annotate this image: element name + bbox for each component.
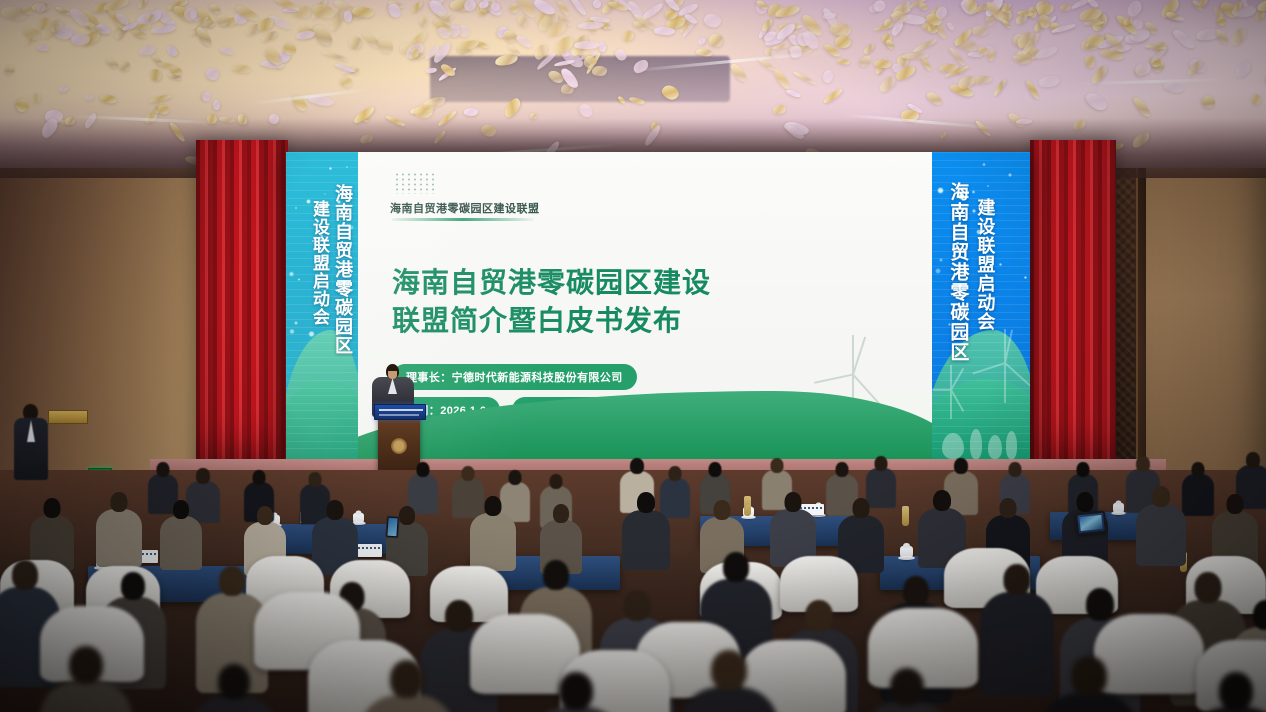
crystal-leaf: [1233, 58, 1254, 80]
person-torso: [622, 510, 670, 570]
banner-left-title-main: 海南自贸港零碳园区: [334, 184, 352, 355]
banner-scanline: [932, 236, 1030, 237]
crystal-leaf: [147, 66, 163, 82]
banner-scanline: [286, 198, 358, 199]
wall-plaque: [48, 410, 88, 424]
banner-scanline: [932, 175, 1030, 176]
person-head: [543, 560, 569, 590]
crystal-leaf: [1170, 26, 1196, 50]
crystal-leaf: [100, 93, 118, 104]
audience-member: [1136, 486, 1186, 569]
crystal-leaf: [793, 71, 817, 86]
banner-sparkle: [952, 255, 955, 258]
crystal-leaf: [925, 90, 944, 107]
person-torso: [680, 687, 778, 712]
banner-scanline: [932, 357, 1030, 358]
crystal-leaf: [213, 100, 220, 111]
crystal-leaf: [862, 42, 875, 54]
crystal-leaf: [464, 108, 479, 117]
crystal-leaf: [1039, 75, 1061, 89]
banner-scanline: [932, 365, 1030, 366]
banner-scanline: [286, 441, 358, 442]
person-head: [875, 456, 888, 471]
banner-scanline: [286, 160, 358, 161]
person-head: [1136, 456, 1150, 472]
crystal-leaf: [946, 21, 956, 31]
banner-scanline: [932, 319, 1030, 320]
screen-banner-right: 海南自贸港零碳园区 建设联盟启动会: [932, 152, 1030, 459]
crystal-leaf: [574, 40, 600, 48]
crystal-leaf: [613, 47, 628, 62]
water-bottle: [902, 506, 909, 526]
banner-scanline: [286, 243, 358, 244]
crystal-leaf: [426, 67, 437, 73]
person-head: [853, 498, 870, 518]
crystal-leaf: [972, 25, 989, 36]
crystal-leaf: [14, 96, 32, 114]
crystal-leaf: [1060, 3, 1072, 11]
banner-sparkle: [337, 200, 341, 204]
person-head: [550, 474, 563, 489]
banner-scanline: [286, 190, 358, 191]
crystal-leaf: [834, 36, 850, 49]
person-head: [1009, 462, 1022, 477]
tablet-device: [1075, 510, 1107, 535]
banner-sparkle: [948, 323, 951, 326]
crystal-leaf: [620, 29, 635, 43]
crystal-leaf: [772, 104, 787, 116]
person-head: [157, 462, 170, 477]
banner-scanline: [286, 319, 358, 320]
crystal-leaf: [4, 63, 17, 75]
banner-scanline: [286, 236, 358, 237]
audience-member: [360, 660, 454, 712]
crystal-leaf: [709, 34, 724, 47]
banner-scanline: [932, 296, 1030, 297]
crystal-leaf: [29, 92, 42, 105]
crystal-leaf: [1215, 27, 1231, 45]
banner-sparkle: [295, 207, 297, 209]
tree-icon-4: [1006, 431, 1017, 459]
person-head: [509, 470, 522, 485]
person-head: [890, 668, 924, 706]
banner-scanline: [932, 243, 1030, 244]
audience-member: [680, 650, 778, 712]
banner-sparkle: [987, 185, 989, 187]
banner-scanline: [286, 365, 358, 366]
banner-scanline: [932, 167, 1030, 168]
banner-scanline: [932, 342, 1030, 343]
crystal-leaf: [822, 69, 835, 84]
person-torso: [96, 509, 142, 567]
banner-scanline: [932, 160, 1030, 161]
banner-scanline: [932, 258, 1030, 259]
person-head: [462, 466, 475, 481]
audience-member: [530, 672, 622, 712]
crystal-leaf: [858, 54, 874, 69]
banner-scanline: [932, 380, 1030, 381]
banner-scanline: [932, 441, 1030, 442]
person-head: [553, 504, 569, 523]
crystal-leaf: [822, 87, 843, 104]
banner-scanline: [932, 388, 1030, 389]
person-head: [1004, 564, 1031, 595]
banner-scanline: [286, 372, 358, 373]
crystal-leaf: [516, 14, 528, 28]
banner-sparkle: [324, 193, 326, 195]
teacup: [900, 546, 913, 560]
person-head: [44, 498, 61, 518]
person-head: [714, 500, 731, 520]
banner-sparkle: [316, 230, 319, 233]
banner-scanline: [932, 281, 1030, 282]
crystal-leaf: [702, 12, 721, 29]
banner-scanline: [286, 312, 358, 313]
banner-scanline: [932, 312, 1030, 313]
person-head: [12, 560, 38, 590]
tree-icon-3: [988, 435, 1002, 459]
banner-scanline: [286, 380, 358, 381]
phone-device: [385, 516, 400, 539]
conference-hall-photo: 海南自贸港零碳园区 建设联盟启动会 海南自贸港零碳园区: [0, 0, 1266, 712]
person-head: [1000, 498, 1017, 518]
crystal-leaf: [578, 22, 604, 30]
banner-scanline: [932, 350, 1030, 351]
audience-member: [860, 668, 954, 712]
crystal-leaf: [231, 64, 251, 74]
banner-sparkle: [1024, 276, 1027, 279]
person-head: [173, 500, 189, 519]
audience-member: [190, 664, 278, 712]
crystal-leaf: [696, 48, 714, 57]
banner-scanline: [286, 334, 358, 335]
crystal-leaf: [1200, 93, 1217, 110]
person-head: [836, 462, 849, 477]
crystal-leaf: [836, 58, 849, 65]
crystal-leaf: [410, 0, 424, 14]
person-head: [485, 496, 502, 516]
banner-scanline: [286, 266, 358, 267]
crystal-leaf: [592, 66, 607, 77]
banner-scanline: [932, 152, 1030, 153]
banner-scanline: [286, 448, 358, 449]
person-head: [903, 576, 929, 606]
crystal-leaf: [1085, 54, 1096, 68]
person-head: [669, 466, 682, 481]
crystal-leaf: [58, 85, 68, 93]
person-torso: [1136, 504, 1186, 566]
banner-scanline: [932, 410, 1030, 411]
banner-scanline: [286, 418, 358, 419]
banner-scanline: [286, 251, 358, 252]
banner-scanline: [286, 296, 358, 297]
crystal-leaf: [1249, 93, 1262, 107]
person-head: [253, 470, 266, 485]
crystal-leaf: [150, 24, 176, 34]
banner-scanline: [286, 175, 358, 176]
podium-sign: [374, 404, 426, 420]
banner-scanline: [286, 213, 358, 214]
banner-scanline: [286, 350, 358, 351]
person-head: [309, 472, 322, 487]
banner-scanline: [932, 190, 1030, 191]
audience-member: [622, 492, 670, 573]
banner-scanline: [932, 198, 1030, 199]
tree-icon-1: [942, 433, 964, 459]
person-head: [1086, 588, 1114, 621]
audience-member: [160, 500, 202, 573]
crystal-leaf: [85, 93, 96, 101]
crystal-leaf: [617, 96, 626, 105]
person-head: [218, 664, 250, 700]
crystal-leaf: [165, 44, 179, 58]
crystal-leaf: [55, 6, 71, 17]
banner-scanline: [286, 388, 358, 389]
crystal-leaf: [343, 11, 352, 23]
banner-scanline: [932, 418, 1030, 419]
person-head: [1219, 672, 1253, 710]
person-head: [1071, 656, 1107, 696]
banner-scanline: [932, 274, 1030, 275]
wind-turbine-icon-banner-right: [988, 329, 1022, 403]
banner-scanline: [286, 167, 358, 168]
banner-scanline: [286, 281, 358, 282]
crystal-leaf: [593, 0, 601, 9]
crystal-leaf: [37, 44, 49, 51]
banner-scanline: [286, 342, 358, 343]
person-head: [954, 458, 968, 474]
banner-scanline: [286, 327, 358, 328]
crystal-leaf: [205, 67, 219, 80]
stage-curtain-right: [1030, 140, 1116, 480]
banner-scanline: [286, 395, 358, 396]
banner-scanline: [932, 182, 1030, 183]
banner-scanline: [286, 220, 358, 221]
crystal-leaf: [1228, 26, 1249, 49]
banner-hill2-left: [286, 379, 358, 459]
crystal-leaf: [912, 37, 938, 53]
crystal-leaf: [515, 33, 534, 49]
dot-grid-icon: [394, 172, 438, 194]
person-head: [1195, 572, 1222, 603]
person-head: [390, 660, 424, 698]
banner-scanline: [932, 448, 1030, 449]
slide-title-line-1: 海南自贸港零碳园区建设: [392, 264, 892, 302]
person-head: [196, 468, 210, 484]
crystal-leaf: [629, 96, 645, 105]
person-head: [1227, 494, 1244, 514]
crystal-leaf: [194, 25, 214, 48]
audience-member: [96, 492, 142, 570]
person-head: [1253, 600, 1266, 630]
banner-scanline: [286, 410, 358, 411]
person-head: [1077, 492, 1094, 512]
crystal-leaf: [993, 78, 1008, 97]
crystal-leaf: [697, 36, 707, 46]
banner-scanline: [286, 228, 358, 229]
person-torso: [40, 681, 132, 712]
person-head: [445, 600, 473, 632]
person-head: [771, 458, 784, 473]
slide-title-line-2: 联盟简介暨白皮书发布: [392, 302, 892, 340]
banner-scanline: [286, 304, 358, 305]
slide-logo-text: 海南自贸港零碳园区建设联盟: [390, 200, 540, 216]
audience-member: [470, 496, 516, 574]
person-head: [399, 506, 415, 525]
crystal-leaf: [260, 30, 278, 44]
crystal-leaf: [219, 46, 234, 55]
person-head: [805, 600, 833, 632]
person-head: [785, 492, 802, 512]
banner-scanline: [932, 205, 1030, 206]
crystal-leaf: [502, 95, 523, 119]
banner-scanline: [932, 403, 1030, 404]
crystal-leaf: [772, 66, 792, 90]
crystal-leaf: [785, 89, 801, 100]
person-head: [121, 572, 145, 600]
crystal-leaf: [1132, 95, 1153, 118]
crystal-leaf: [131, 28, 147, 39]
speaker-face: [388, 371, 397, 379]
person-head: [417, 462, 430, 477]
crystal-leaf: [414, 104, 433, 119]
crystal-leaf: [578, 102, 595, 119]
audience-member: [1190, 672, 1266, 712]
crystal-leaf: [119, 61, 130, 72]
banner-scanline: [286, 274, 358, 275]
crystal-leaf: [375, 35, 396, 56]
slide-logo-underline: [392, 218, 534, 221]
banner-scanline: [932, 433, 1030, 434]
person-head: [1192, 462, 1205, 477]
person-head: [637, 492, 655, 513]
person-head: [709, 462, 722, 477]
crystal-leaf: [654, 27, 675, 36]
person-torso: [470, 513, 516, 571]
crystal-leaf: [137, 0, 148, 9]
banner-scanline: [932, 220, 1030, 221]
person-head: [1152, 486, 1170, 507]
person-head: [1246, 452, 1260, 468]
screen-banner-left: 海南自贸港零碳园区 建设联盟启动会: [286, 152, 358, 459]
person-head: [630, 458, 644, 474]
banner-scanline: [932, 372, 1030, 373]
audience-member: [1040, 656, 1138, 712]
banner-sparkle: [294, 321, 298, 325]
banner-scanline: [932, 228, 1030, 229]
banner-scanline: [286, 152, 358, 153]
person-head: [711, 650, 747, 690]
crystal-leaf: [24, 36, 36, 46]
slide-title: 海南自贸港零碳园区建设 联盟简介暨白皮书发布: [392, 264, 892, 339]
crystal-leaf: [200, 91, 212, 103]
audience-member: [40, 646, 132, 712]
crystal-leaf: [418, 15, 429, 28]
banner-scanline: [932, 327, 1030, 328]
banner-scanline: [286, 205, 358, 206]
banner-scanline: [932, 395, 1030, 396]
crystal-leaf: [729, 62, 750, 84]
crystal-leaf: [339, 76, 353, 89]
person-torso: [160, 516, 202, 570]
person-head: [723, 552, 749, 582]
pill-chairman: 理事长：宁德时代新能源科技股份有限公司: [392, 364, 637, 390]
audience-member: [1182, 462, 1214, 519]
person-head: [69, 646, 103, 684]
crystal-leaf: [884, 38, 896, 50]
banner-scanline: [286, 258, 358, 259]
banner-scanline: [932, 426, 1030, 427]
person-head: [624, 590, 651, 621]
banner-scanline: [286, 357, 358, 358]
banner-scanline: [286, 426, 358, 427]
banner-scanline: [932, 251, 1030, 252]
water-bottle: [744, 496, 751, 516]
person-head: [257, 506, 273, 525]
crystal-leaf: [874, 59, 892, 68]
crystal-leaf: [660, 83, 681, 102]
crystal-leaf: [569, 0, 588, 17]
banner-scanline: [932, 334, 1030, 335]
crystal-leaf: [1216, 15, 1228, 27]
person-head: [111, 492, 128, 512]
crystal-leaf: [461, 0, 477, 14]
crystal-leaf: [987, 49, 996, 61]
banner-sparkle: [982, 163, 986, 167]
crystal-leaf: [1083, 90, 1109, 113]
person-head: [1077, 462, 1090, 477]
banner-scanline: [286, 182, 358, 183]
person-torso: [1182, 474, 1214, 516]
crystal-leaf: [105, 56, 120, 70]
banner-left-title-sub: 建设联盟启动会: [311, 200, 328, 326]
banner-scanline: [286, 403, 358, 404]
presentation-slide: 海南自贸港零碳园区建设联盟 海南自贸港零碳园区建设 联盟简介暨白皮书发布 理事长…: [358, 152, 932, 459]
crystal-leaf: [1163, 81, 1184, 94]
banner-scanline: [286, 433, 358, 434]
banner-scanline: [932, 266, 1030, 267]
banner-sparkle: [312, 240, 314, 242]
banner-scanline: [932, 289, 1030, 290]
crystal-leaf: [921, 57, 933, 72]
banner-scanline: [286, 289, 358, 290]
crystal-leaf: [322, 50, 349, 62]
crystal-leaf: [348, 35, 364, 50]
person-head: [327, 500, 344, 520]
person-head: [559, 672, 593, 710]
banner-scanline: [932, 213, 1030, 214]
person-head: [933, 490, 951, 511]
stage-curtain-left: [196, 140, 288, 480]
banner-scanline: [932, 304, 1030, 305]
crystal-leaf: [157, 104, 170, 115]
standing-staff-member: [14, 404, 48, 490]
person-head: [219, 566, 245, 596]
teacup: [1113, 503, 1124, 515]
banner-sparkle: [958, 193, 965, 200]
crystal-leaf: [1034, 44, 1059, 60]
